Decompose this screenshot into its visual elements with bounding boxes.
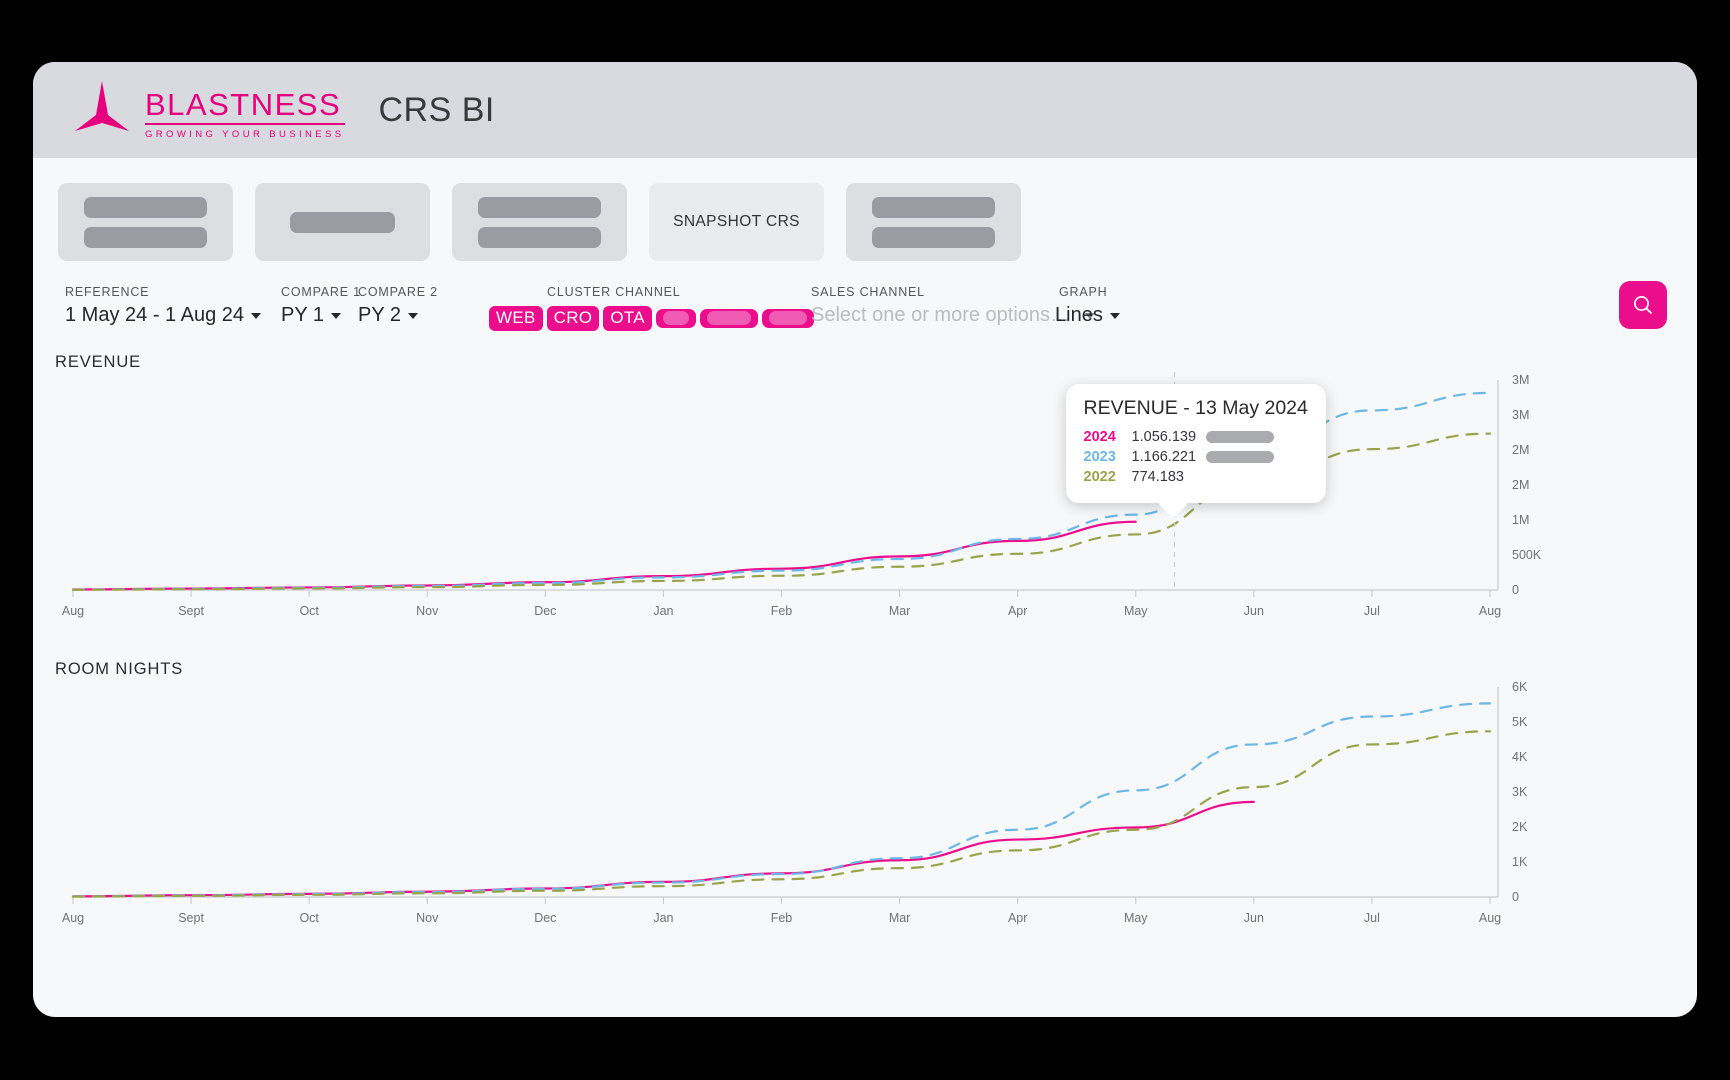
svg-text:Jan: Jan xyxy=(653,604,673,618)
filter-label: COMPARE 2 xyxy=(358,285,438,299)
tooltip-value: 1.166.221 xyxy=(1132,449,1206,465)
filter-value[interactable]: PY 2 xyxy=(358,304,438,327)
tooltip-row: 2022 774.183 xyxy=(1084,469,1308,485)
filter-value[interactable]: Lines xyxy=(1055,304,1120,327)
svg-text:Aug: Aug xyxy=(62,911,84,925)
svg-text:500K: 500K xyxy=(1512,548,1542,562)
svg-text:Aug: Aug xyxy=(1479,911,1501,925)
svg-text:Jan: Jan xyxy=(653,911,673,925)
sales-channel-placeholder: Select one or more options… xyxy=(811,304,1070,327)
toolbar-button-5[interactable] xyxy=(846,183,1021,261)
chart-title-revenue: REVENUE xyxy=(55,353,1697,372)
search-icon xyxy=(1631,293,1655,317)
toolbar-button-3[interactable] xyxy=(452,183,627,261)
filter-sales-channel[interactable]: SALES CHANNEL Select one or more options… xyxy=(811,285,1095,327)
chart-room-nights: 6K5K4K3K2K1K0AugSeptOctNovDecJanFebMarAp… xyxy=(55,679,1697,949)
redacted-label xyxy=(872,197,995,218)
cluster-channel-pills: WEB CRO OTA xyxy=(489,306,814,331)
svg-text:Jun: Jun xyxy=(1244,604,1264,618)
filter-graph[interactable]: GRAPH Lines xyxy=(1055,285,1120,327)
svg-text:May: May xyxy=(1124,604,1148,618)
filter-value[interactable]: 1 May 24 - 1 Aug 24 xyxy=(65,304,261,327)
svg-text:Dec: Dec xyxy=(534,911,556,925)
channel-pill-redacted-1[interactable] xyxy=(656,309,696,328)
svg-text:Jul: Jul xyxy=(1364,911,1380,925)
svg-text:Nov: Nov xyxy=(416,604,439,618)
filter-label: SALES CHANNEL xyxy=(811,285,1095,299)
channel-pill-web[interactable]: WEB xyxy=(489,306,543,331)
toolbar-button-2[interactable] xyxy=(255,183,430,261)
svg-text:Sept: Sept xyxy=(178,604,204,618)
brand-logo: BLASTNESS GROWING YOUR BUSINESS xyxy=(75,81,345,139)
svg-text:Mar: Mar xyxy=(889,604,911,618)
filter-value[interactable]: Select one or more options… xyxy=(811,304,1095,327)
filter-label: COMPARE 1 xyxy=(281,285,361,299)
filter-reference[interactable]: REFERENCE 1 May 24 - 1 Aug 24 xyxy=(65,285,261,327)
svg-text:3M: 3M xyxy=(1512,373,1529,387)
redacted-label xyxy=(1206,431,1274,443)
svg-text:3M: 3M xyxy=(1512,408,1529,422)
svg-text:1K: 1K xyxy=(1512,855,1528,869)
graph-type-value: Lines xyxy=(1055,304,1103,327)
toolbar: SNAPSHOT CRS xyxy=(33,158,1697,261)
tooltip-year: 2022 xyxy=(1084,469,1132,485)
redacted-label xyxy=(872,227,995,248)
svg-text:6K: 6K xyxy=(1512,680,1528,694)
channel-pill-cro[interactable]: CRO xyxy=(547,306,600,331)
tooltip-year: 2024 xyxy=(1084,429,1132,445)
chevron-down-icon[interactable] xyxy=(251,313,261,319)
reference-date-range: 1 May 24 - 1 Aug 24 xyxy=(65,304,244,327)
redacted-label xyxy=(84,197,207,218)
svg-text:3K: 3K xyxy=(1512,785,1528,799)
filter-label: GRAPH xyxy=(1059,285,1120,299)
svg-text:Oct: Oct xyxy=(299,604,319,618)
filter-label: CLUSTER CHANNEL xyxy=(547,285,814,299)
toolbar-button-snapshot-crs[interactable]: SNAPSHOT CRS xyxy=(649,183,824,261)
redacted-label xyxy=(1206,451,1274,463)
svg-text:2K: 2K xyxy=(1512,820,1528,834)
chart-revenue-svg: 3M3M2M2M1M500K0AugSeptOctNovDecJanFebMar… xyxy=(55,372,1675,642)
tooltip-year: 2023 xyxy=(1084,449,1132,465)
page-title: CRS BI xyxy=(379,91,495,130)
toolbar-button-1[interactable] xyxy=(58,183,233,261)
filter-cluster-channel[interactable]: CLUSTER CHANNEL WEB CRO OTA xyxy=(489,285,814,331)
svg-text:1M: 1M xyxy=(1512,513,1529,527)
compare1-value: PY 1 xyxy=(281,304,324,327)
svg-text:Jul: Jul xyxy=(1364,604,1380,618)
chart-tooltip: REVENUE - 13 May 2024 2024 1.056.139 202… xyxy=(1066,384,1326,503)
svg-text:Apr: Apr xyxy=(1008,604,1027,618)
tooltip-title: REVENUE - 13 May 2024 xyxy=(1084,397,1308,420)
chart-room-nights-svg: 6K5K4K3K2K1K0AugSeptOctNovDecJanFebMarAp… xyxy=(55,679,1675,949)
svg-text:2M: 2M xyxy=(1512,478,1529,492)
chevron-down-icon[interactable] xyxy=(408,313,418,319)
tooltip-value: 1.056.139 xyxy=(1132,429,1206,445)
chevron-down-icon[interactable] xyxy=(1110,313,1120,319)
svg-text:2M: 2M xyxy=(1512,443,1529,457)
svg-text:0: 0 xyxy=(1512,583,1519,597)
tooltip-row: 2023 1.166.221 xyxy=(1084,449,1308,465)
toolbar-button-label: SNAPSHOT CRS xyxy=(673,213,800,231)
svg-text:Nov: Nov xyxy=(416,911,439,925)
chart-title-room-nights: ROOM NIGHTS xyxy=(55,660,1697,679)
svg-text:Oct: Oct xyxy=(299,911,319,925)
svg-text:Feb: Feb xyxy=(771,604,793,618)
svg-text:5K: 5K xyxy=(1512,715,1528,729)
svg-text:Mar: Mar xyxy=(889,911,911,925)
filter-label: REFERENCE xyxy=(65,285,261,299)
svg-text:4K: 4K xyxy=(1512,750,1528,764)
svg-text:Feb: Feb xyxy=(771,911,793,925)
svg-text:Sept: Sept xyxy=(178,911,204,925)
svg-text:Dec: Dec xyxy=(534,604,556,618)
channel-pill-redacted-2[interactable] xyxy=(700,309,758,328)
redacted-label xyxy=(290,212,395,233)
compare2-value: PY 2 xyxy=(358,304,401,327)
svg-text:Apr: Apr xyxy=(1008,911,1027,925)
svg-text:Aug: Aug xyxy=(62,604,84,618)
svg-text:May: May xyxy=(1124,911,1148,925)
filter-bar: REFERENCE 1 May 24 - 1 Aug 24 COMPARE 1 … xyxy=(33,277,1697,339)
redacted-label xyxy=(478,197,601,218)
svg-text:Jun: Jun xyxy=(1244,911,1264,925)
filter-compare-1[interactable]: COMPARE 1 PY 1 xyxy=(281,285,361,327)
chart-revenue: 3M3M2M2M1M500K0AugSeptOctNovDecJanFebMar… xyxy=(55,372,1697,642)
tooltip-value: 774.183 xyxy=(1132,469,1206,485)
brand-name: BLASTNESS xyxy=(145,89,345,125)
svg-text:Aug: Aug xyxy=(1479,604,1501,618)
filter-compare-2[interactable]: COMPARE 2 PY 2 xyxy=(358,285,438,327)
svg-text:0: 0 xyxy=(1512,890,1519,904)
app-header: BLASTNESS GROWING YOUR BUSINESS CRS BI xyxy=(33,62,1697,158)
tooltip-row: 2024 1.056.139 xyxy=(1084,429,1308,445)
channel-pill-redacted-3[interactable] xyxy=(762,309,814,328)
blastness-star-icon xyxy=(75,81,129,139)
chevron-down-icon[interactable] xyxy=(331,313,341,319)
filter-value[interactable]: PY 1 xyxy=(281,304,361,327)
brand-tagline: GROWING YOUR BUSINESS xyxy=(145,130,345,140)
search-button[interactable] xyxy=(1619,281,1667,329)
redacted-label xyxy=(478,227,601,248)
redacted-label xyxy=(84,227,207,248)
app-window: BLASTNESS GROWING YOUR BUSINESS CRS BI S… xyxy=(33,62,1697,1017)
channel-pill-ota[interactable]: OTA xyxy=(603,306,652,331)
